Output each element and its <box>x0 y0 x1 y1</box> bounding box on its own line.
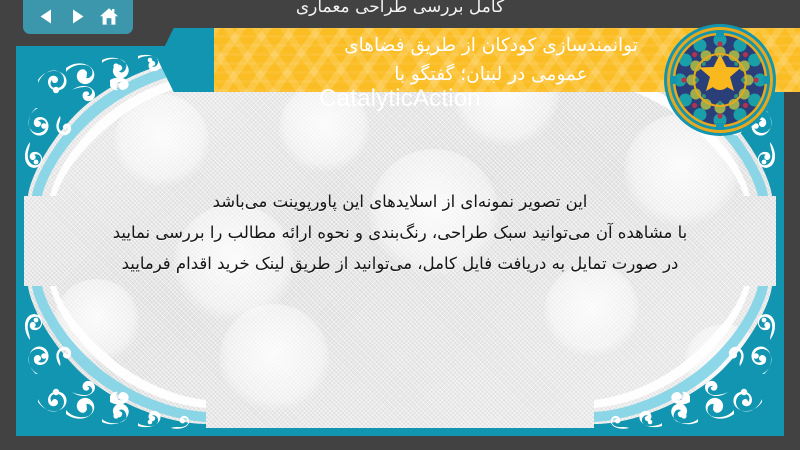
triangle-right-icon <box>69 8 86 25</box>
home-icon <box>99 7 119 26</box>
triangle-left-icon <box>38 8 55 25</box>
slide-body-text: این تصویر نمونه‌ای از اسلایدهای این پاور… <box>56 186 744 279</box>
navigation-bar <box>23 0 133 34</box>
body-line-1: این تصویر نمونه‌ای از اسلایدهای این پاور… <box>56 186 744 217</box>
body-line-3: در صورت تمایل به دریافت فایل کامل، می‌تو… <box>56 248 744 279</box>
next-button[interactable] <box>65 4 91 28</box>
prev-button[interactable] <box>34 4 60 28</box>
slide-preview-screen: کامل بررسی طراحی معماری <box>0 0 800 450</box>
persian-mandala-medallion <box>662 22 778 138</box>
home-button[interactable] <box>96 4 122 28</box>
banner-line-1: توانمندسازی کودکان از طریق فضاهای <box>344 31 638 60</box>
body-line-2: با مشاهده آن می‌توانید سبک طراحی، رنگ‌بن… <box>56 217 744 248</box>
